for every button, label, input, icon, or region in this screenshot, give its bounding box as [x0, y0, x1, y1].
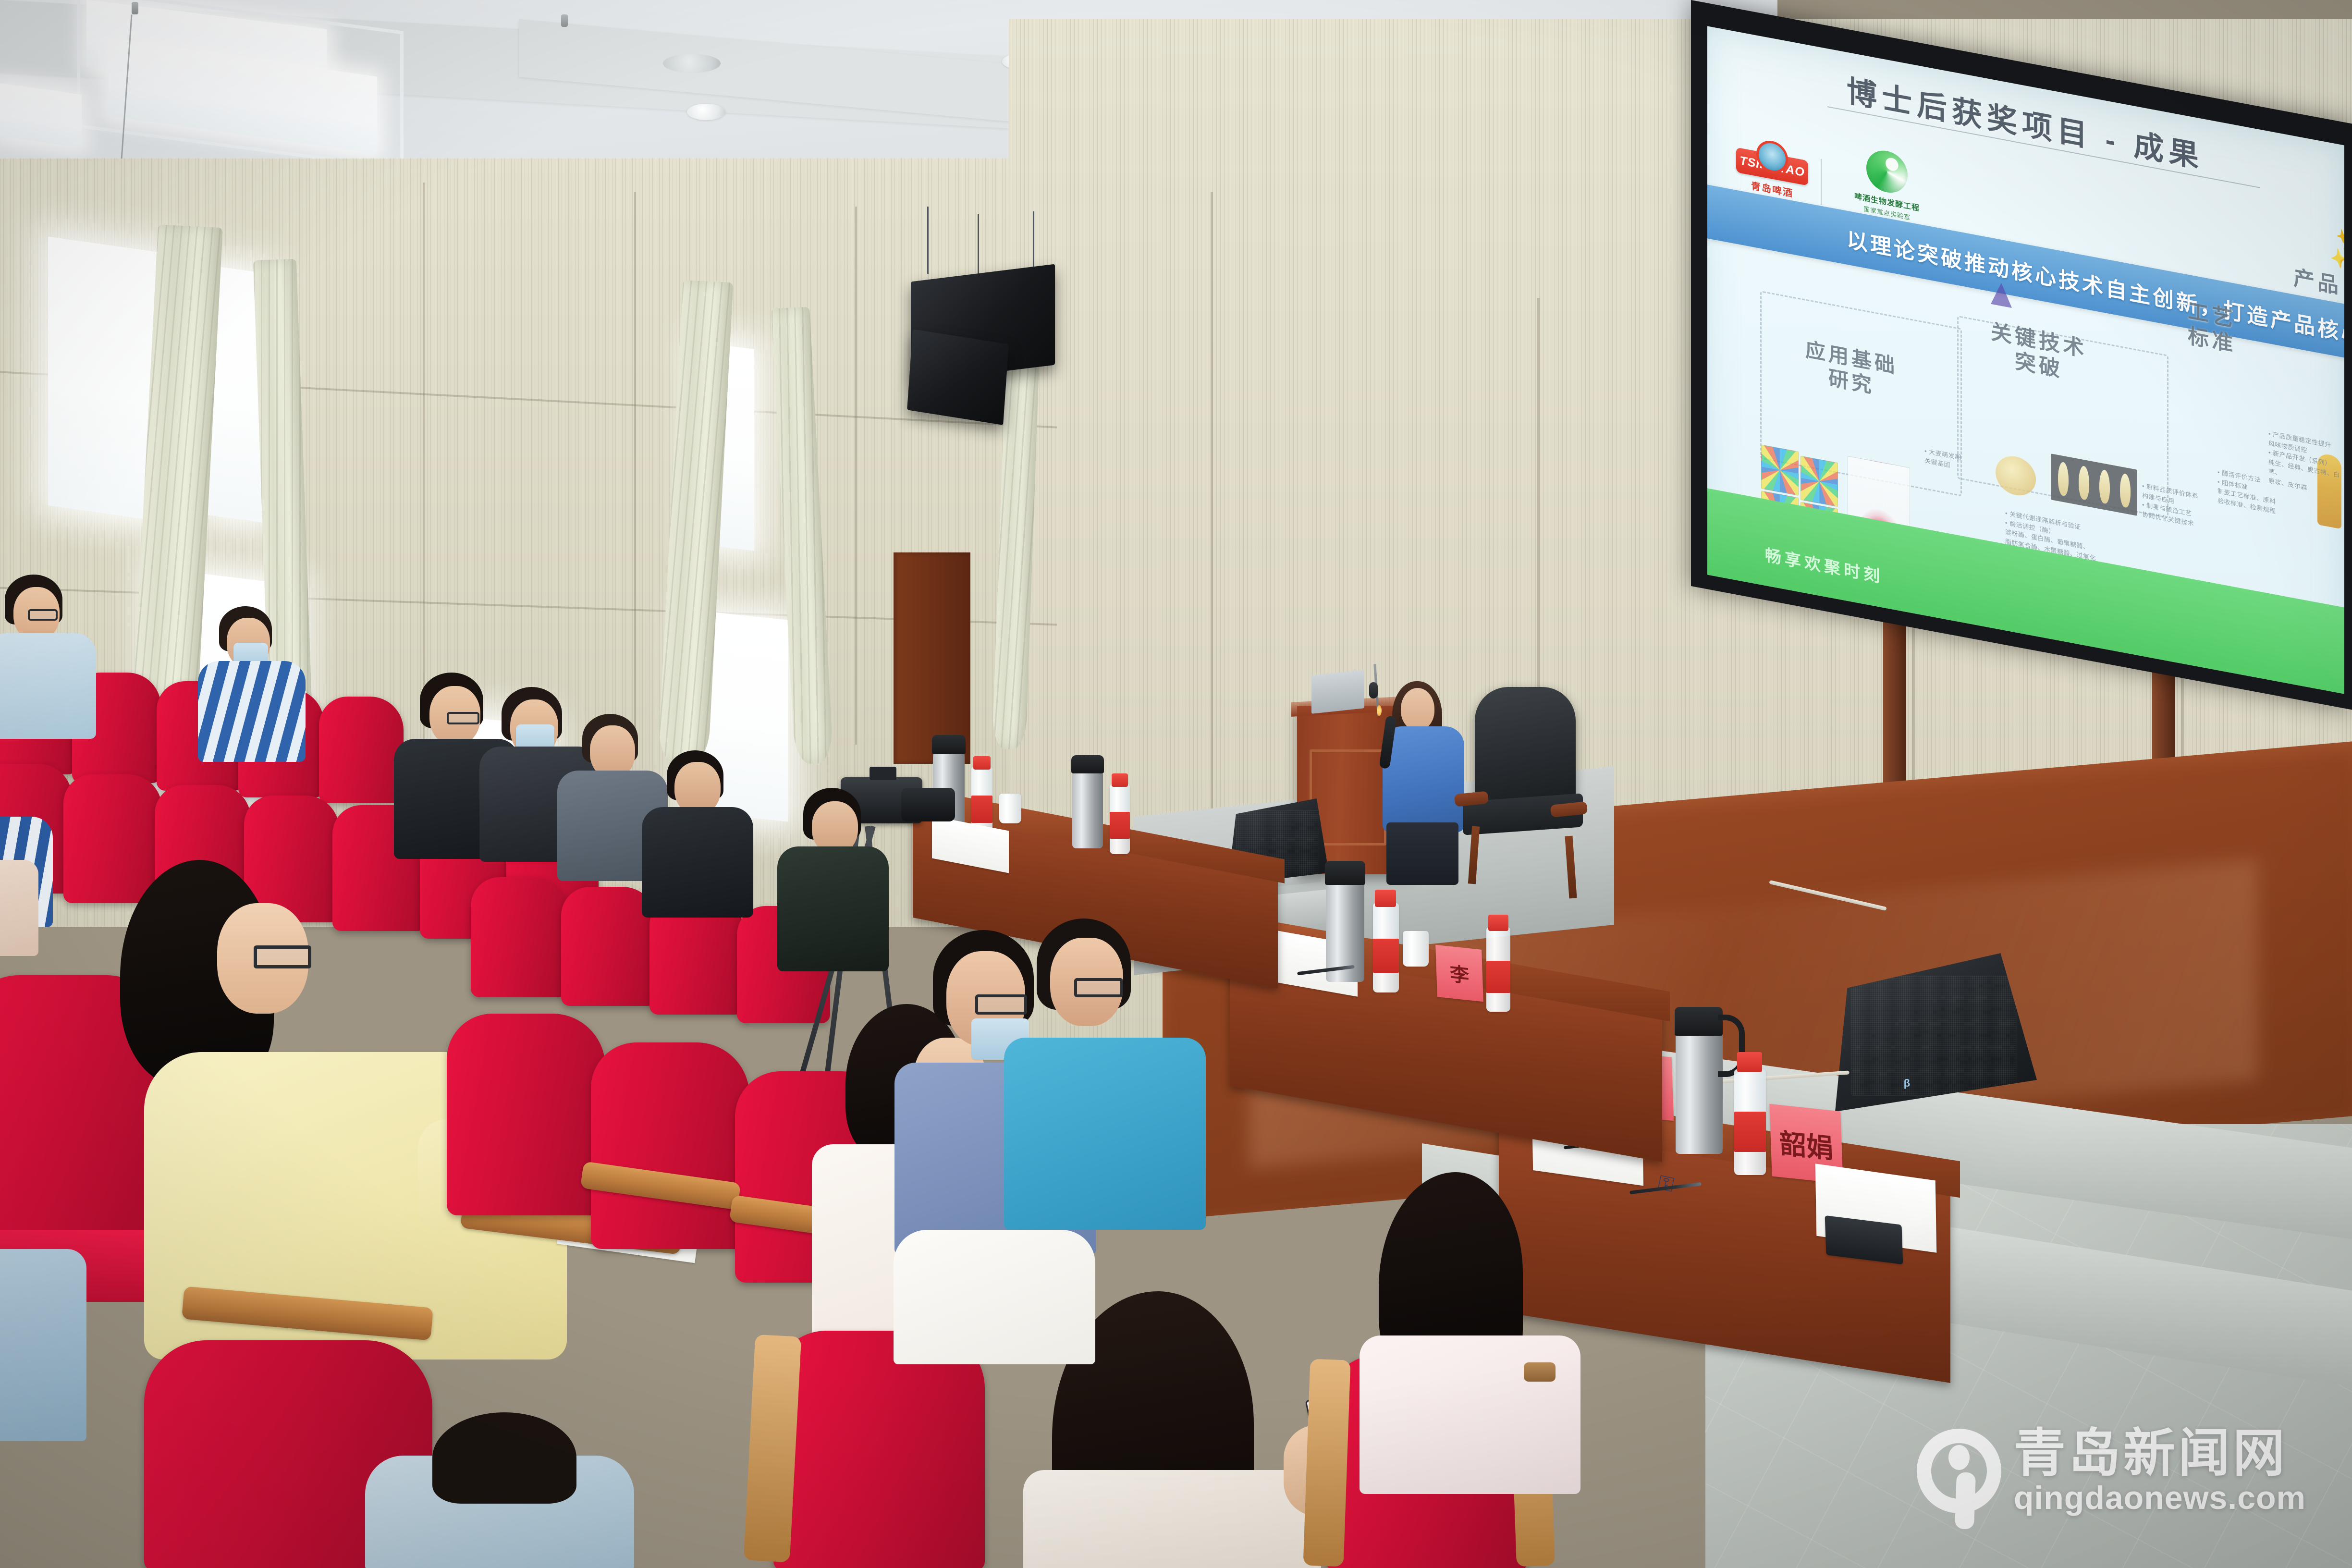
desk-waterbottle-2 — [1373, 903, 1399, 992]
bottom-attendee-torso-1 — [1023, 1470, 1321, 1568]
audience-glasses-1 — [28, 609, 58, 621]
audience-torso-6 — [642, 807, 753, 918]
seat-row1-e[interactable] — [319, 697, 404, 803]
projection-screen: 博士后获奖项目 - 成果 TSINGTAO 青岛啤酒 啤酒生物发酵工程 国家重点… — [1691, 0, 2352, 710]
desk-bottlecap-3 — [1488, 915, 1508, 931]
grain-icon-1 — [2058, 461, 2069, 497]
speaker-chain-1 — [927, 207, 929, 274]
photographer-torso — [777, 846, 889, 971]
grain-icon-4 — [2120, 473, 2131, 508]
mid-attendee-glasses-2 — [975, 994, 1027, 1015]
desk-bottlecap-5 — [1112, 773, 1128, 787]
seat-row2-b[interactable] — [63, 774, 162, 903]
right-front-attendee-torso — [1360, 1335, 1580, 1494]
dslr-camera-hotshoe — [870, 767, 896, 780]
sprinkler-1 — [132, 2, 138, 14]
desk-thermos-4 — [1072, 769, 1103, 848]
right-front-attendee-watch — [1524, 1362, 1556, 1382]
bottom-left-attendee-hair — [432, 1412, 576, 1504]
desk-waterbottle-5 — [1110, 784, 1130, 854]
seat-row3-a[interactable] — [471, 877, 567, 997]
figure-heatmap-1 — [1761, 444, 1799, 496]
sprinkler-2 — [561, 14, 568, 27]
seat-bottom-1[interactable] — [773, 1331, 985, 1568]
lab-leaf-icon — [1866, 147, 1908, 196]
product-wing-icon: ✨ — [2325, 229, 2344, 270]
mid-attendee-glasses-3 — [1074, 978, 1123, 997]
desk-teacup-2 — [1403, 931, 1429, 967]
logo-divider — [1821, 159, 1822, 205]
figure-bullets-2: • 原料品质评价体系 构建与应用 • 制麦与酿造工艺 协同优化关键技术 — [2142, 481, 2219, 533]
desk-thermos-1 — [1676, 1029, 1723, 1154]
podium-laptop[interactable] — [1311, 670, 1364, 714]
name-card-3: 李 — [1435, 945, 1483, 1002]
seat-mid-1[interactable] — [447, 1014, 605, 1215]
figure-malt-icon — [1996, 453, 2036, 499]
monitor-right-grille — [1851, 975, 2017, 1096]
seat-mid-2[interactable] — [591, 1042, 749, 1249]
ceiling-vent — [663, 54, 721, 73]
hall-door[interactable] — [894, 552, 970, 764]
wall-seam-v1 — [423, 183, 425, 749]
dslr-camera-lens — [901, 788, 955, 821]
presenter-head — [1401, 688, 1434, 730]
mid-attendee-torso-3 — [1004, 1038, 1206, 1230]
audience-torso-1 — [0, 633, 96, 739]
wall-seam-v3 — [855, 207, 857, 745]
figure-grain-panel — [2051, 453, 2137, 516]
downlight-2 — [687, 104, 725, 120]
speaker-chain-2 — [978, 214, 979, 275]
left-edge-person-torso-3 — [0, 860, 38, 956]
presenter-skirt — [1386, 822, 1458, 885]
desk-thermos-cap-1 — [1675, 1007, 1723, 1036]
podium-lamp-icon — [1377, 705, 1382, 716]
audience-glasses-3 — [447, 712, 479, 724]
desk-teacup-3 — [999, 794, 1021, 823]
hanging-line-array-speaker-bottom — [907, 329, 1009, 425]
bottom-attendee-torso-2 — [894, 1230, 1095, 1364]
gooseneck-mic-head — [1369, 682, 1378, 698]
auditorium-scene: 博士后获奖项目 - 成果 TSINGTAO 青岛啤酒 啤酒生物发酵工程 国家重点… — [0, 0, 2352, 1568]
seat-wood-edge-2 — [1303, 1359, 1351, 1567]
figure-flask-icon — [1991, 281, 2012, 308]
grain-icon-2 — [2079, 465, 2089, 501]
figure-heatmap-2 — [1801, 456, 1838, 507]
slide-content: 博士后获奖项目 - 成果 TSINGTAO 青岛啤酒 啤酒生物发酵工程 国家重点… — [1707, 26, 2344, 694]
desk-thermos-cap-4 — [1071, 755, 1104, 773]
stage-label-1: 关键技术 突破 — [1957, 313, 2120, 393]
desk-waterbottle-1 — [1734, 1069, 1766, 1175]
front-attendee-glasses — [254, 945, 311, 968]
audience-torso-2 — [198, 661, 306, 762]
wall-seam-back-v1 — [1211, 192, 1213, 913]
grain-icon-3 — [2099, 469, 2110, 504]
desk-bottlecap-4 — [973, 756, 991, 770]
desk-waterbottle-3 — [1486, 927, 1510, 1012]
desk-bottlecap-1 — [1737, 1052, 1762, 1072]
wall-seam-v2 — [634, 192, 636, 749]
stage-chair-back[interactable] — [1475, 687, 1576, 807]
figure-bullets-0: • 大麦萌发期 关键基因 — [1924, 446, 1987, 477]
desk-thermos-cap-2 — [1325, 861, 1365, 885]
desk-thermos-cap-3 — [932, 735, 966, 754]
presenter-torso — [1383, 726, 1464, 832]
left-edge-person-torso-2 — [0, 1249, 86, 1441]
monitor-brand-badge: β — [1904, 1077, 1910, 1090]
desk-bottlecap-2 — [1375, 890, 1396, 907]
